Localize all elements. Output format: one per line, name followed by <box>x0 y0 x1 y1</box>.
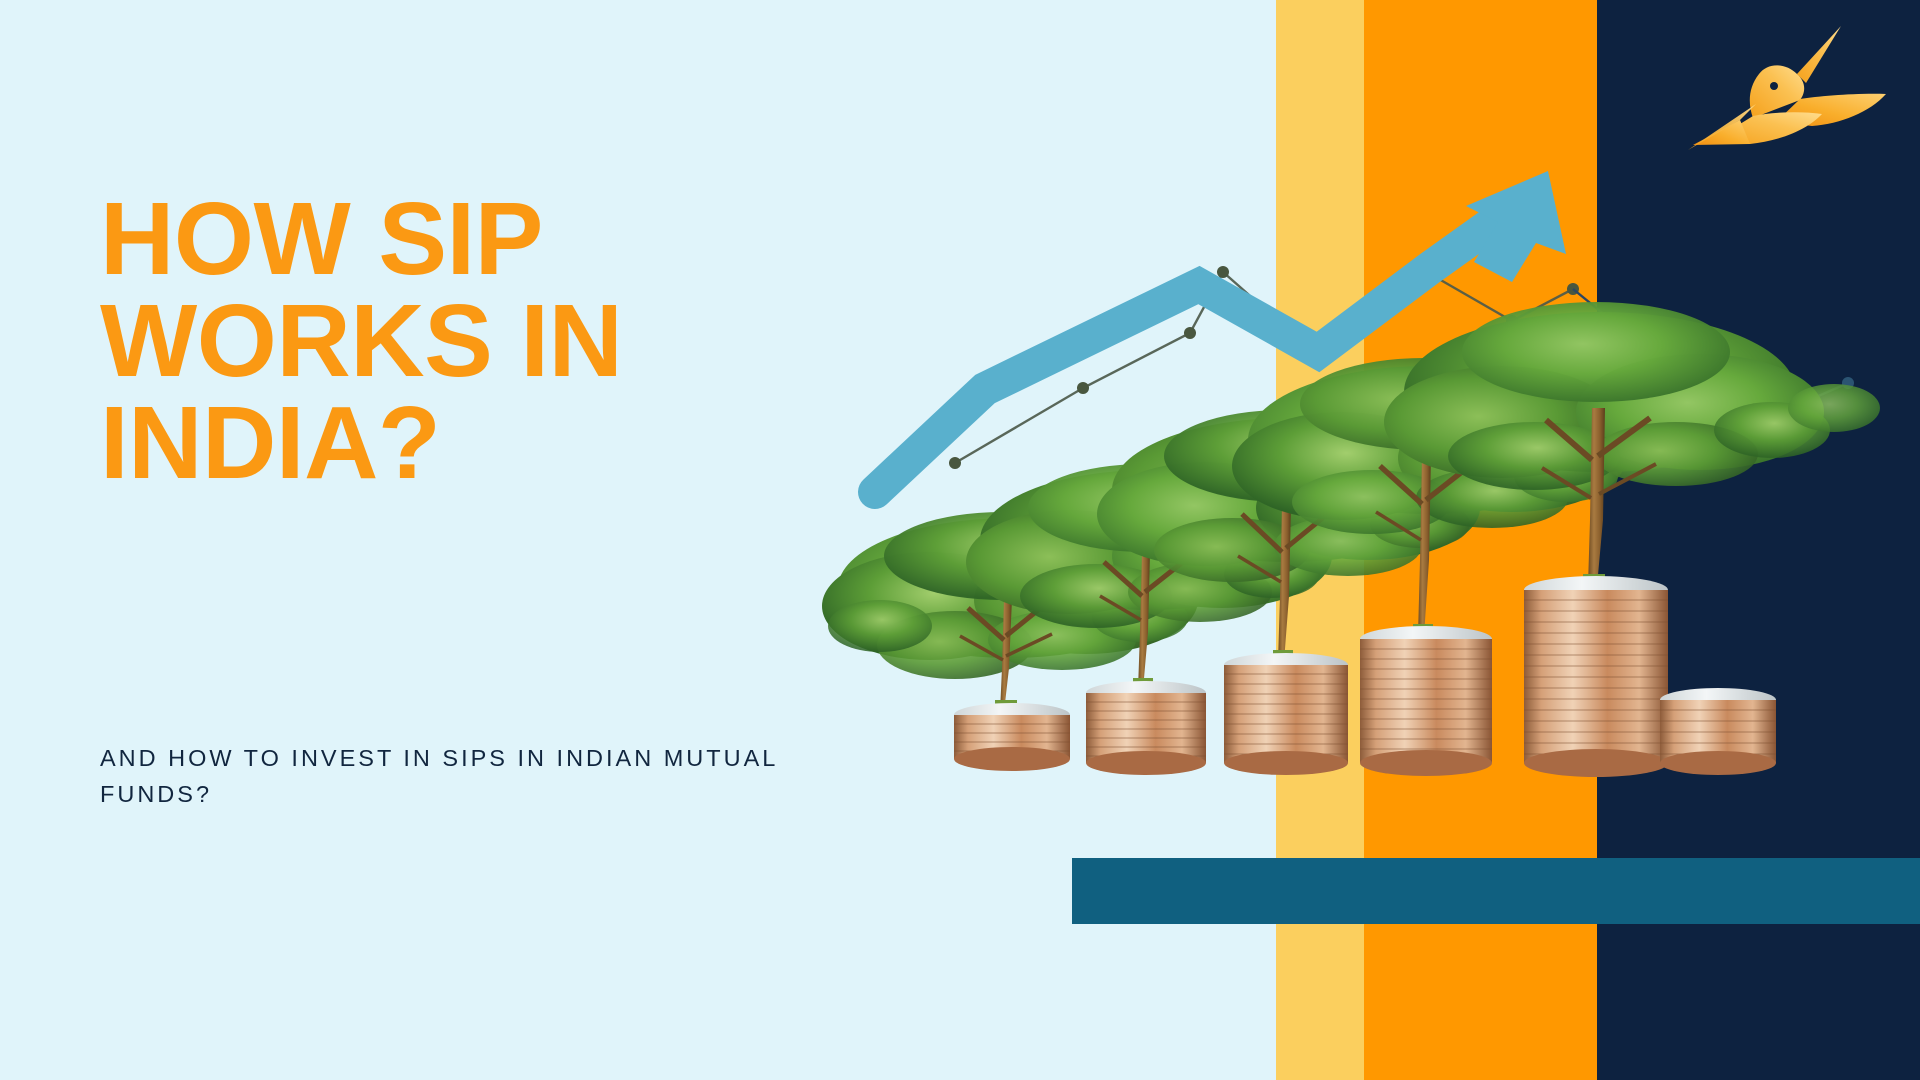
title-block: HOW SIP WORKS IN INDIA? <box>100 188 860 494</box>
coin-stack-5 <box>1524 576 1668 777</box>
coin-stack-4 <box>1360 626 1492 776</box>
page-subtitle: AND HOW TO INVEST IN SIPS IN INDIAN MUTU… <box>100 740 780 813</box>
coin-stack-2 <box>1086 681 1206 775</box>
teal-plinth <box>1072 858 1920 924</box>
coin-stack-1 <box>954 703 1070 771</box>
poster-canvas: HOW SIP WORKS IN INDIA? AND HOW TO INVES… <box>0 0 1920 1080</box>
coin-stack-6 <box>1660 688 1776 775</box>
coin-stack-3 <box>1224 653 1348 775</box>
page-title: HOW SIP WORKS IN INDIA? <box>100 188 860 494</box>
hummingbird-logo <box>1688 26 1886 150</box>
